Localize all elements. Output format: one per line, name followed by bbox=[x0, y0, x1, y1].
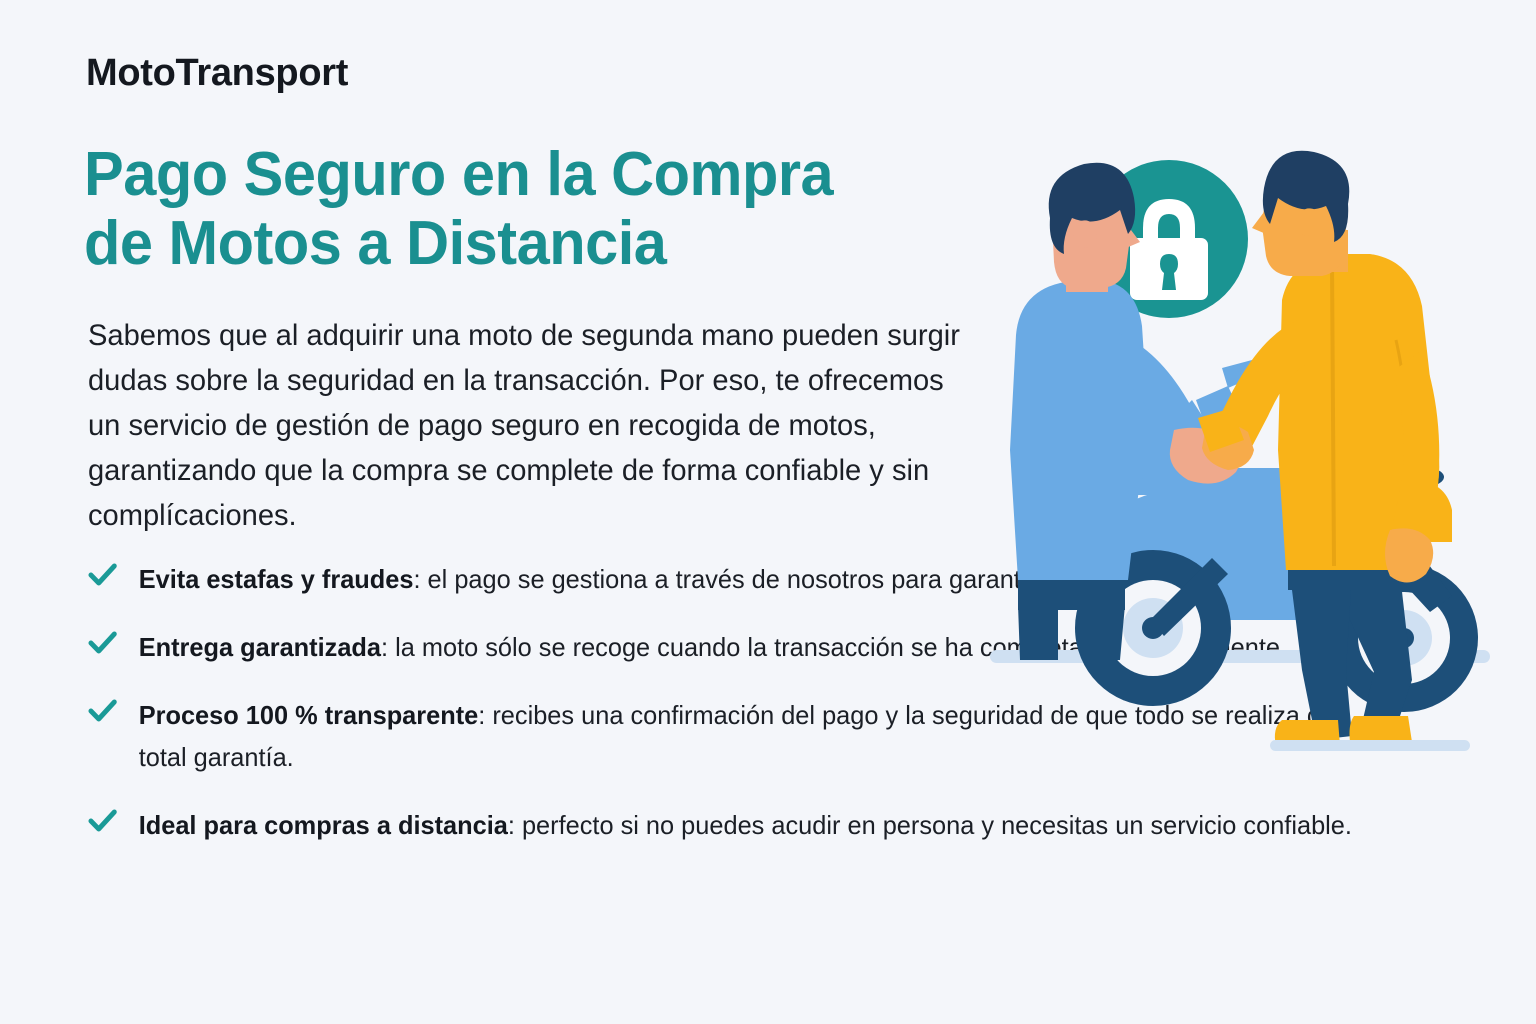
list-item-text: : perfecto si no puedes acudir en person… bbox=[508, 810, 1352, 840]
infographic-canvas: MotoTransport Pago Seguro en la Compra d… bbox=[0, 0, 1536, 1024]
illustration bbox=[960, 150, 1536, 790]
ground-line-front bbox=[1270, 740, 1470, 751]
list-item-lead: Evita estafas y fraudes bbox=[139, 564, 414, 594]
list-item-lead: Entrega garantizada bbox=[139, 632, 381, 662]
page-title-line-2: de Motos a Distancia bbox=[84, 209, 948, 278]
check-icon bbox=[88, 697, 117, 727]
check-icon bbox=[88, 561, 117, 591]
check-icon bbox=[88, 807, 117, 837]
list-item-lead: Ideal para compras a distancia bbox=[139, 810, 508, 840]
brand-title: MotoTransport bbox=[86, 52, 348, 95]
page-title: Pago Seguro en la Compra de Motos a Dist… bbox=[84, 140, 948, 279]
intro-paragraph: Sabemos que al adquirir una moto de segu… bbox=[88, 313, 961, 538]
check-icon bbox=[88, 629, 117, 659]
page-title-line-1: Pago Seguro en la Compra bbox=[84, 140, 948, 209]
list-item: Ideal para compras a distancia: perfecto… bbox=[88, 804, 1375, 846]
list-item-lead: Proceso 100 % transparente bbox=[139, 700, 479, 730]
